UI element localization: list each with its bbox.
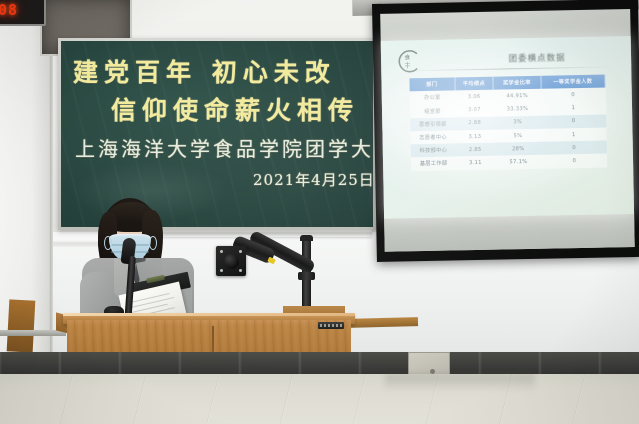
podium-top-highlight xyxy=(63,313,355,316)
chalkboard-line-3: 上海海洋大学食品学院团学大会 xyxy=(75,133,373,162)
table-cell: 5% xyxy=(494,129,542,143)
table-cell: 科技部中心 xyxy=(411,144,456,158)
table-cell: 44.91% xyxy=(493,89,541,103)
floor-shadow-reflection xyxy=(385,374,535,392)
chalkboard-line-2: 信仰使命薪火相传 xyxy=(111,91,359,127)
side-table xyxy=(348,317,418,328)
floor-reflection xyxy=(0,374,639,424)
chalkboard-date: 2021年4月25日 xyxy=(253,169,373,190)
table-cell: 28% xyxy=(494,142,542,156)
vesa-screw-icon xyxy=(239,269,242,272)
table-cell: 1 xyxy=(542,127,607,141)
projection-screen[interactable]: 食 团委横点数据 部门 平均绩点 奖学金比率 一等奖学金人数 xyxy=(372,0,639,262)
table-cell: 志愿者中心 xyxy=(410,130,455,144)
mask-ear-loop xyxy=(149,236,157,250)
led-display-sign: 08 xyxy=(0,0,46,26)
table-cell: 0 xyxy=(542,141,607,155)
led-digits: 08 xyxy=(0,1,18,19)
slide-data-table: 部门 平均绩点 奖学金比率 一等奖学金人数 办公室 3.06 44.91% 0 … xyxy=(409,75,607,171)
table-cell: 0 xyxy=(542,154,607,168)
table-cell: 3% xyxy=(494,116,542,130)
side-rail-upper xyxy=(0,330,66,336)
table-cell: 办公室 xyxy=(410,91,455,105)
vesa-screw-icon xyxy=(220,250,223,253)
table-header-cell: 部门 xyxy=(409,77,454,91)
projected-slide: 食 团委横点数据 部门 平均绩点 奖学金比率 一等奖学金人数 xyxy=(381,36,634,219)
slide-title: 团委横点数据 xyxy=(467,50,607,65)
mask-ear-loop xyxy=(104,236,112,250)
table-cell: 3.11 xyxy=(456,156,495,170)
table-cell: 0 xyxy=(541,88,606,102)
table-cell: 1 xyxy=(541,101,606,115)
screen-lower-shadow xyxy=(384,214,635,252)
vesa-pivot xyxy=(224,254,239,269)
table-header-cell: 一等奖学金人数 xyxy=(540,75,605,90)
chair-backrest xyxy=(7,299,36,352)
chalkboard-line-1: 建党百年 初心未改 xyxy=(73,53,336,89)
table-cell: 思想引领部 xyxy=(410,117,455,131)
table-cell: 2.88 xyxy=(455,116,494,130)
classroom-scene: 08 建党百年 初心未改 信仰使命薪火相传 上海海洋大学食品学院团学大会 202… xyxy=(0,0,639,424)
monitor-arm-post-cap xyxy=(300,235,313,241)
table-header-cell: 奖学金比率 xyxy=(493,76,541,90)
table-cell: 3.07 xyxy=(455,103,494,117)
table-cell: 33.33% xyxy=(494,102,542,116)
slide-title-rule xyxy=(403,66,613,71)
svg-text:食: 食 xyxy=(404,53,410,61)
table-row: 基层工作部 3.11 57.1% 0 xyxy=(411,154,607,171)
vesa-screw-icon xyxy=(239,250,242,253)
vesa-screw-icon xyxy=(220,269,223,272)
table-header-cell: 平均绩点 xyxy=(454,77,493,91)
table-cell: 基层工作部 xyxy=(411,157,456,171)
table-cell: 3.13 xyxy=(455,130,494,144)
table-cell: 组宣部 xyxy=(410,104,455,118)
podium-control-buttons[interactable] xyxy=(320,324,342,327)
table-cell: 57.1% xyxy=(495,155,543,169)
table-cell: 0 xyxy=(541,114,606,128)
table-cell: 2.85 xyxy=(456,143,495,157)
vesa-mount-plate xyxy=(216,246,246,276)
table-cell: 3.06 xyxy=(455,90,494,104)
monitor-arm-collar xyxy=(298,272,315,280)
